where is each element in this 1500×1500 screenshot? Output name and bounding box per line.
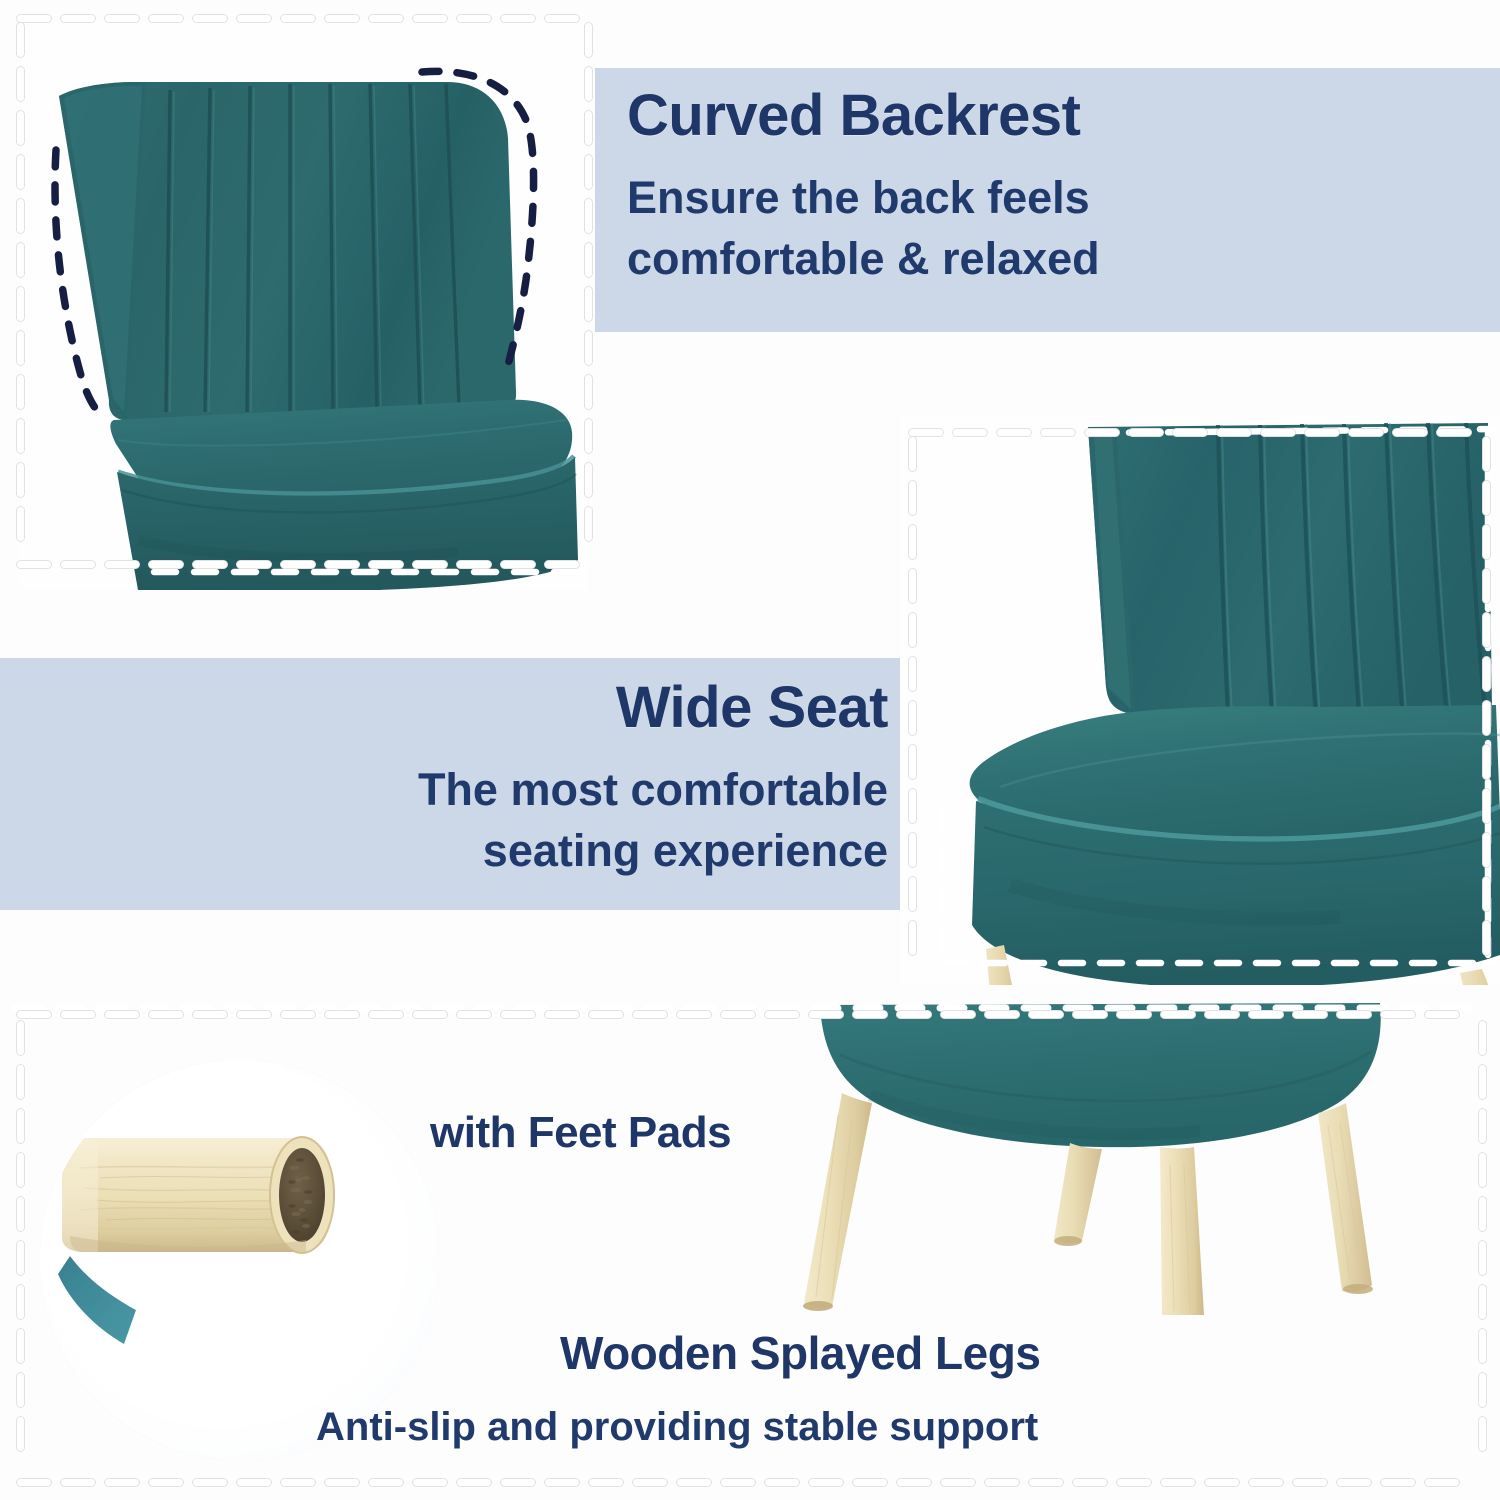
frame-dash-bottom-panel-bottom — [1028, 1478, 1064, 1487]
frame-dash-bottom-panel-top — [588, 1010, 624, 1019]
frame-dash-bottom-panel-bottom — [1380, 1478, 1416, 1487]
frame-dash-right-panel-left — [908, 700, 917, 736]
frame-dash-bottom-panel-left — [16, 1064, 25, 1100]
frame-dash-top-left-panel-bottom — [368, 560, 404, 569]
frame-dash-top-left-panel-left — [16, 198, 25, 234]
wide-seat-outline-dash — [900, 415, 1500, 1015]
curved-backrest-title: Curved Backrest — [627, 86, 1081, 146]
frame-dash-top-left-panel-bottom — [456, 560, 492, 569]
wide-seat-description-line-2: seating experience — [288, 821, 888, 882]
frame-dash-right-panel-left — [908, 744, 917, 780]
frame-dash-bottom-panel-top — [1292, 1010, 1328, 1019]
frame-dash-bottom-panel-bottom — [896, 1478, 932, 1487]
frame-dash-right-panel-right — [1482, 568, 1491, 604]
frame-dash-right-panel-right — [1482, 656, 1491, 692]
frame-dash-bottom-panel-bottom — [324, 1478, 360, 1487]
frame-dash-right-panel-top — [1392, 428, 1428, 437]
frame-dash-right-panel-left — [908, 656, 917, 692]
frame-dash-bottom-panel-bottom — [1336, 1478, 1372, 1487]
frame-dash-top-left-panel-bottom — [16, 560, 52, 569]
frame-dash-top-left-panel-left — [16, 110, 25, 146]
frame-dash-top-left-panel-top — [236, 14, 272, 23]
frame-dash-right-panel-right — [1482, 920, 1491, 956]
feet-pads-title: with Feet Pads — [430, 1110, 731, 1156]
frame-dash-bottom-panel-bottom — [16, 1478, 52, 1487]
frame-dash-right-panel-left — [908, 524, 917, 560]
frame-dash-bottom-panel-left — [16, 1328, 25, 1364]
frame-dash-right-panel-left — [908, 568, 917, 604]
frame-dash-bottom-panel-top — [1072, 1010, 1108, 1019]
frame-dash-right-panel-right — [1482, 612, 1491, 648]
frame-dash-bottom-panel-right — [1478, 1152, 1487, 1188]
curved-backrest-description-line-1: Ensure the back feels — [627, 168, 1207, 229]
frame-dash-right-panel-right — [1482, 788, 1491, 824]
wide-seat-photo — [900, 415, 1500, 1015]
frame-dash-bottom-panel-bottom — [940, 1478, 976, 1487]
frame-dash-bottom-panel-bottom — [368, 1478, 404, 1487]
frame-dash-bottom-panel-bottom — [852, 1478, 888, 1487]
frame-dash-right-panel-top — [952, 428, 988, 437]
frame-dash-right-panel-left — [908, 832, 917, 868]
frame-dash-right-panel-right — [1482, 700, 1491, 736]
wooden-leg-back-left — [804, 1093, 872, 1308]
frame-dash-right-panel-top — [996, 428, 1032, 437]
frame-dash-right-panel-top — [1216, 428, 1252, 437]
frame-dash-right-panel-top — [1304, 428, 1340, 437]
frame-dash-bottom-panel-bottom — [412, 1478, 448, 1487]
frame-dash-top-left-panel-left — [16, 330, 25, 366]
felt-anti-slip-pad — [279, 1148, 325, 1242]
frame-dash-top-left-panel-bottom — [148, 560, 184, 569]
frame-dash-top-left-panel-bottom — [324, 560, 360, 569]
frame-dash-bottom-panel-right — [1478, 1284, 1487, 1320]
frame-dash-right-panel-left — [908, 480, 917, 516]
frame-dash-top-left-panel-right — [584, 22, 593, 58]
frame-dash-bottom-panel-left — [16, 1196, 25, 1232]
frame-dash-bottom-panel-top — [676, 1010, 712, 1019]
frame-dash-right-panel-left — [908, 788, 917, 824]
wide-seat-title: Wide Seat — [616, 678, 888, 738]
frame-dash-bottom-panel-bottom — [1160, 1478, 1196, 1487]
frame-dash-bottom-panel-bottom — [1072, 1478, 1108, 1487]
wide-seat-description: The most comfortable seating experience — [288, 760, 888, 882]
frame-dash-top-left-panel-right — [584, 462, 593, 498]
frame-dash-bottom-panel-right — [1478, 1196, 1487, 1232]
frame-dash-bottom-panel-top — [148, 1010, 184, 1019]
frame-dash-bottom-panel-bottom — [1248, 1478, 1284, 1487]
frame-dash-bottom-panel-bottom — [632, 1478, 668, 1487]
frame-dash-bottom-panel-top — [456, 1010, 492, 1019]
frame-dash-bottom-panel-bottom — [1204, 1478, 1240, 1487]
frame-dash-bottom-panel-top — [984, 1010, 1020, 1019]
frame-dash-top-left-panel-top — [324, 14, 360, 23]
frame-dash-top-left-panel-right — [584, 198, 593, 234]
frame-dash-bottom-panel-top — [104, 1010, 140, 1019]
frame-dash-bottom-panel-bottom — [236, 1478, 272, 1487]
frame-dash-top-left-panel-top — [456, 14, 492, 23]
frame-dash-bottom-panel-left — [16, 1372, 25, 1408]
frame-dash-right-panel-right — [1482, 832, 1491, 868]
frame-dash-bottom-panel-top — [16, 1010, 52, 1019]
curved-backrest-description-line-2: comfortable & relaxed — [627, 229, 1207, 290]
frame-dash-bottom-panel-bottom — [1292, 1478, 1328, 1487]
frame-dash-top-left-panel-left — [16, 286, 25, 322]
frame-dash-bottom-panel-bottom — [60, 1478, 96, 1487]
frame-dash-bottom-panel-left — [16, 1240, 25, 1276]
frame-dash-top-left-panel-top — [148, 14, 184, 23]
frame-dash-top-left-panel-right — [584, 110, 593, 146]
frame-dash-bottom-panel-top — [412, 1010, 448, 1019]
frame-dash-top-left-panel-bottom — [236, 560, 272, 569]
frame-dash-bottom-panel-top — [1336, 1010, 1372, 1019]
wooden-leg-middle — [1054, 1143, 1102, 1243]
frame-dash-top-left-panel-right — [584, 286, 593, 322]
frame-dash-bottom-panel-bottom — [984, 1478, 1020, 1487]
frame-dash-top-left-panel-bottom — [500, 560, 536, 569]
frame-dash-bottom-panel-top — [60, 1010, 96, 1019]
frame-dash-top-left-panel-left — [16, 506, 25, 542]
frame-dash-bottom-panel-bottom — [588, 1478, 624, 1487]
frame-dash-bottom-panel-left — [16, 1108, 25, 1144]
frame-dash-bottom-panel-top — [808, 1010, 844, 1019]
frame-dash-top-left-panel-left — [16, 462, 25, 498]
frame-dash-top-left-panel-top — [500, 14, 536, 23]
frame-dash-bottom-panel-top — [1248, 1010, 1284, 1019]
frame-dash-top-left-panel-left — [16, 66, 25, 102]
frame-dash-bottom-panel-bottom — [676, 1478, 712, 1487]
frame-dash-right-panel-top — [1084, 428, 1120, 437]
frame-dash-top-left-panel-right — [584, 242, 593, 278]
wide-seat-description-line-1: The most comfortable — [288, 760, 888, 821]
frame-dash-bottom-panel-left — [16, 1284, 25, 1320]
legs-top-outline-dash — [0, 985, 1500, 1065]
frame-dash-bottom-panel-top — [500, 1010, 536, 1019]
frame-dash-bottom-panel-top — [940, 1010, 976, 1019]
frame-dash-bottom-panel-bottom — [1424, 1478, 1460, 1487]
frame-dash-bottom-panel-top — [544, 1010, 580, 1019]
frame-dash-right-panel-left — [908, 920, 917, 956]
frame-dash-top-left-panel-bottom — [192, 560, 228, 569]
frame-dash-bottom-panel-bottom — [192, 1478, 228, 1487]
frame-dash-bottom-panel-bottom — [104, 1478, 140, 1487]
wooden-legs-description: Anti-slip and providing stable support — [316, 1400, 1038, 1454]
frame-dash-top-left-panel-right — [584, 506, 593, 542]
seat-base-outline-dash — [18, 20, 588, 590]
frame-dash-bottom-panel-top — [1380, 1010, 1416, 1019]
frame-dash-top-left-panel-right — [584, 154, 593, 190]
frame-dash-top-left-panel-bottom — [280, 560, 316, 569]
frame-dash-bottom-panel-top — [720, 1010, 756, 1019]
frame-dash-top-left-panel-top — [104, 14, 140, 23]
frame-dash-bottom-panel-top — [236, 1010, 272, 1019]
frame-dash-bottom-panel-left — [16, 1416, 25, 1452]
frame-dash-right-panel-top — [1172, 428, 1208, 437]
frame-dash-bottom-panel-right — [1478, 1064, 1487, 1100]
wooden-leg-back-right — [1318, 1103, 1372, 1292]
frame-dash-top-left-panel-left — [16, 242, 25, 278]
frame-dash-bottom-panel-bottom — [720, 1478, 756, 1487]
frame-dash-top-left-panel-top — [192, 14, 228, 23]
frame-dash-bottom-panel-right — [1478, 1416, 1487, 1452]
frame-dash-right-panel-right — [1482, 744, 1491, 780]
frame-dash-top-left-panel-left — [16, 374, 25, 410]
frame-dash-top-left-panel-bottom — [104, 560, 140, 569]
frame-dash-top-left-panel-right — [584, 330, 593, 366]
frame-dash-bottom-panel-top — [368, 1010, 404, 1019]
frame-dash-top-left-panel-top — [60, 14, 96, 23]
frame-dash-top-left-panel-right — [584, 374, 593, 410]
frame-dash-top-left-panel-top — [368, 14, 404, 23]
frame-dash-bottom-panel-right — [1478, 1372, 1487, 1408]
frame-dash-bottom-panel-bottom — [1116, 1478, 1152, 1487]
frame-dash-bottom-panel-right — [1478, 1020, 1487, 1056]
frame-dash-right-panel-right — [1482, 480, 1491, 516]
frame-dash-right-panel-top — [1040, 428, 1076, 437]
frame-dash-right-panel-top — [1348, 428, 1384, 437]
frame-dash-right-panel-top — [1436, 428, 1472, 437]
frame-dash-bottom-panel-top — [1424, 1010, 1460, 1019]
frame-dash-bottom-panel-bottom — [808, 1478, 844, 1487]
curved-backrest-photo — [18, 20, 588, 590]
frame-dash-top-left-panel-right — [584, 418, 593, 454]
frame-dash-bottom-panel-top — [1204, 1010, 1240, 1019]
frame-dash-top-left-panel-bottom — [60, 560, 96, 569]
frame-dash-bottom-panel-bottom — [500, 1478, 536, 1487]
frame-dash-bottom-panel-bottom — [764, 1478, 800, 1487]
frame-dash-right-panel-right — [1482, 876, 1491, 912]
frame-dash-right-panel-left — [908, 436, 917, 472]
frame-dash-bottom-panel-top — [1160, 1010, 1196, 1019]
frame-dash-right-panel-left — [908, 612, 917, 648]
frame-dash-bottom-panel-bottom — [456, 1478, 492, 1487]
frame-dash-bottom-panel-right — [1478, 1240, 1487, 1276]
frame-dash-bottom-panel-top — [632, 1010, 668, 1019]
frame-dash-right-panel-left — [908, 876, 917, 912]
frame-dash-bottom-panel-top — [192, 1010, 228, 1019]
frame-dash-top-left-panel-left — [16, 154, 25, 190]
frame-dash-bottom-panel-top — [280, 1010, 316, 1019]
frame-dash-bottom-panel-top — [1028, 1010, 1064, 1019]
frame-dash-bottom-panel-top — [852, 1010, 888, 1019]
wooden-leg-front-center — [1160, 1147, 1204, 1315]
frame-dash-bottom-panel-top — [764, 1010, 800, 1019]
frame-dash-top-left-panel-top — [412, 14, 448, 23]
frame-dash-top-left-panel-left — [16, 418, 25, 454]
frame-dash-bottom-panel-right — [1478, 1328, 1487, 1364]
teal-fabric-sliver — [58, 1256, 136, 1344]
frame-dash-bottom-panel-top — [324, 1010, 360, 1019]
frame-dash-bottom-panel-left — [16, 1020, 25, 1056]
infographic-canvas: Curved Backrest Ensure the back feels co… — [0, 0, 1500, 1500]
frame-dash-right-panel-right — [1482, 436, 1491, 472]
frame-dash-top-left-panel-left — [16, 22, 25, 58]
wooden-legs-title: Wooden Splayed Legs — [560, 1330, 1040, 1378]
frame-dash-top-left-panel-right — [584, 66, 593, 102]
frame-dash-bottom-panel-bottom — [280, 1478, 316, 1487]
frame-dash-right-panel-right — [1482, 524, 1491, 560]
frame-dash-bottom-panel-bottom — [544, 1478, 580, 1487]
frame-dash-top-left-panel-top — [544, 14, 580, 23]
frame-dash-bottom-panel-right — [1478, 1108, 1487, 1144]
frame-dash-top-left-panel-bottom — [412, 560, 448, 569]
frame-dash-bottom-panel-top — [896, 1010, 932, 1019]
frame-dash-right-panel-top — [1260, 428, 1296, 437]
frame-dash-right-panel-top — [1128, 428, 1164, 437]
curved-backrest-description: Ensure the back feels comfortable & rela… — [627, 168, 1207, 290]
frame-dash-bottom-panel-top — [1116, 1010, 1152, 1019]
frame-dash-bottom-panel-left — [16, 1152, 25, 1188]
frame-dash-top-left-panel-top — [280, 14, 316, 23]
frame-dash-top-left-panel-bottom — [544, 560, 580, 569]
frame-dash-bottom-panel-bottom — [148, 1478, 184, 1487]
